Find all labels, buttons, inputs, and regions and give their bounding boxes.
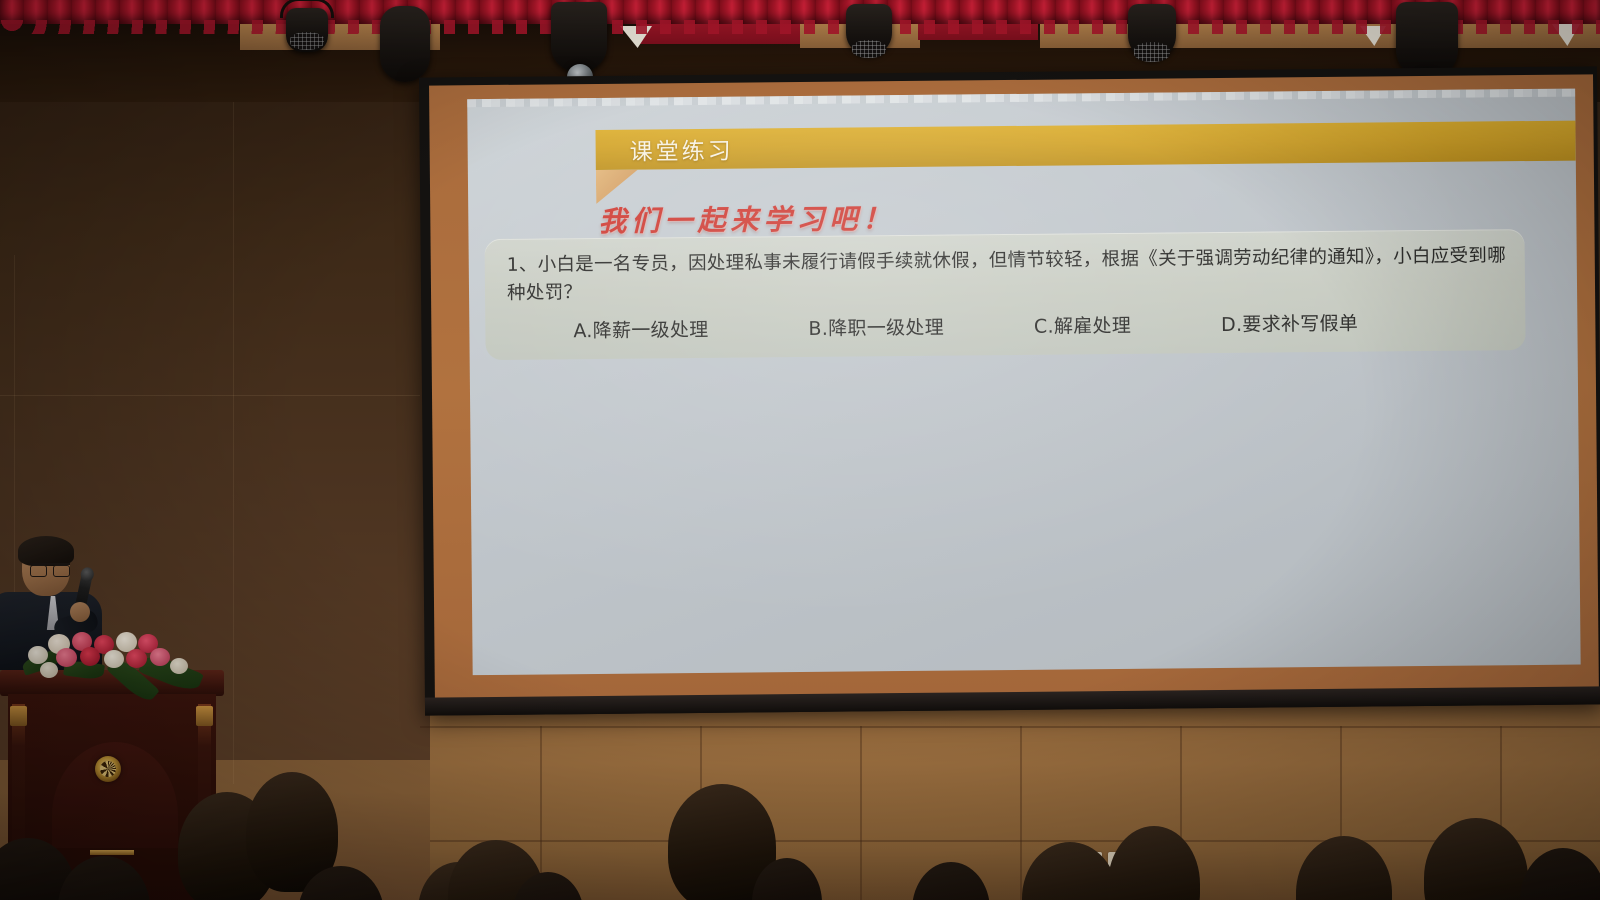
flower <box>28 646 48 664</box>
options-row: A.降薪一级处理 B.降职一级处理 C.解雇处理 D.要求补写假单 <box>507 307 1507 344</box>
podium-capital-right <box>196 706 213 726</box>
wall-panel-line <box>420 726 1600 728</box>
lecture-hall-scene: 课堂练习 我们一起来学习吧！ 1、小白是一名专员，因处理私事未履行请假手续就休假… <box>0 0 1600 900</box>
light-body <box>551 2 607 72</box>
podium-gold-strip <box>90 850 134 855</box>
podium-emblem-icon <box>95 756 121 782</box>
flower <box>40 662 58 678</box>
slide-top-edge <box>467 89 1575 108</box>
flower <box>104 650 124 668</box>
flower <box>126 649 147 668</box>
light-grille <box>290 32 324 50</box>
flower <box>80 647 100 666</box>
presentation-slide: 课堂练习 我们一起来学习吧！ 1、小白是一名专员，因处理私事未履行请假手续就休假… <box>467 89 1580 676</box>
question-text: 1、小白是一名专员，因处理私事未履行请假手续就休假，但情节较轻，根据《关于强调劳… <box>507 242 1507 307</box>
light-grille <box>852 40 886 58</box>
flower-arrangement <box>20 632 216 694</box>
option-a[interactable]: A.降薪一级处理 <box>573 314 708 342</box>
wall-panel-line <box>430 840 1600 842</box>
flower <box>170 658 188 674</box>
light-grille <box>1134 42 1170 62</box>
projection-screen: 课堂练习 我们一起来学习吧！ 1、小白是一名专员，因处理私事未履行请假手续就休假… <box>419 66 1600 715</box>
stage-light-2 <box>372 6 436 84</box>
wall-panel-line <box>860 726 862 900</box>
banner-title: 课堂练习 <box>630 132 734 167</box>
podium-capital-left <box>10 706 27 726</box>
stage-light-5 <box>1120 4 1186 68</box>
slide-banner: 课堂练习 <box>595 121 1575 170</box>
wall-seam <box>0 395 420 396</box>
wall-panel-line <box>1020 726 1022 900</box>
light-body <box>1396 2 1458 78</box>
question-box: 1、小白是一名专员，因处理私事未履行请假手续就休假，但情节较轻，根据《关于强调劳… <box>485 229 1526 359</box>
flower <box>56 648 77 667</box>
screen-border: 课堂练习 我们一起来学习吧！ 1、小白是一名专员，因处理私事未履行请假手续就休假… <box>429 74 1599 699</box>
stage-light-4 <box>838 4 900 64</box>
banner-bar: 课堂练习 <box>595 121 1575 170</box>
curtain-scallop <box>0 20 1600 34</box>
option-b[interactable]: B.降职一级处理 <box>808 312 944 340</box>
stage-light-1 <box>276 2 338 54</box>
option-c[interactable]: C.解雇处理 <box>1034 310 1131 338</box>
podium-column-left <box>12 704 25 854</box>
light-body <box>380 6 430 82</box>
slide-headline: 我们一起来学习吧！ <box>598 197 895 240</box>
flower <box>150 648 170 666</box>
option-d[interactable]: D.要求补写假单 <box>1221 308 1358 336</box>
